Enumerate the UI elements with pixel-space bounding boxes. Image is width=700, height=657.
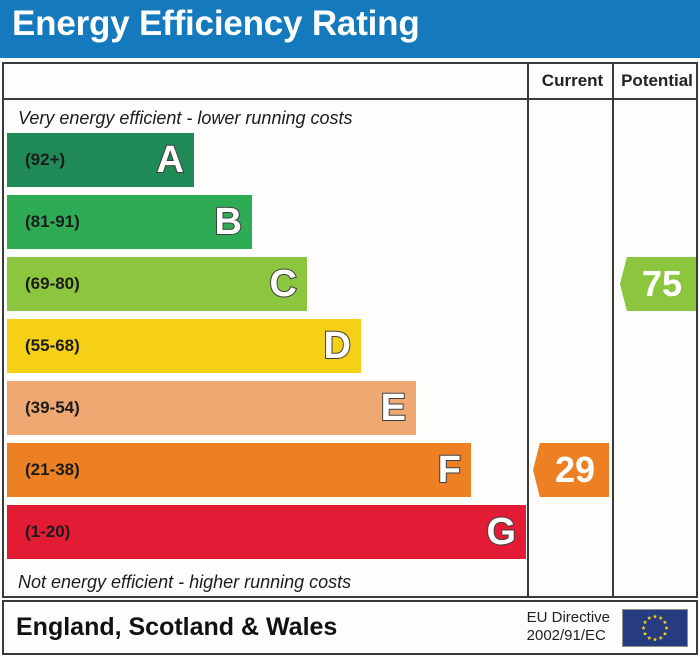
rating-table: Current Potential Very energy efficient …	[2, 62, 698, 598]
band-letter-label: D	[324, 327, 351, 365]
band-letter-label: F	[438, 451, 461, 489]
footer-directive-line2: 2002/91/EC	[527, 627, 610, 645]
energy-efficiency-rating-chart: Energy Efficiency Rating Current Potenti…	[0, 0, 700, 657]
band-range-label: (81-91)	[25, 212, 80, 232]
chart-footer: England, Scotland & Wales EU Directive 2…	[2, 600, 698, 655]
column-header-potential: Potential	[618, 71, 696, 91]
band-letter-label: G	[486, 513, 516, 551]
band-letter-label: E	[381, 389, 406, 427]
potential-column-divider	[612, 64, 614, 596]
page-title: Energy Efficiency Rating	[12, 4, 420, 44]
current-rating-badge-value: 29	[547, 452, 595, 488]
potential-rating-badge-value: 75	[634, 266, 682, 302]
band-letter-label: B	[215, 203, 242, 241]
band-letter-label: C	[270, 265, 297, 303]
potential-rating-badge: 75	[620, 257, 696, 311]
rating-band-c: (69-80)C	[7, 257, 307, 311]
band-range-label: (55-68)	[25, 336, 80, 356]
column-header-current: Current	[533, 71, 612, 91]
rating-band-e: (39-54)E	[7, 381, 416, 435]
rating-band-d: (55-68)D	[7, 319, 361, 373]
rating-band-b: (81-91)B	[7, 195, 252, 249]
band-range-label: (1-20)	[25, 522, 70, 542]
band-range-label: (21-38)	[25, 460, 80, 480]
eu-flag-icon	[622, 609, 688, 647]
rating-band-a: (92+)A	[7, 133, 194, 187]
band-range-label: (39-54)	[25, 398, 80, 418]
band-letter-label: A	[157, 141, 184, 179]
rating-band-f: (21-38)F	[7, 443, 471, 497]
chart-title-banner: Energy Efficiency Rating	[0, 0, 700, 58]
footer-region-label: England, Scotland & Wales	[16, 613, 337, 642]
footer-directive-line1: EU Directive	[527, 609, 610, 627]
rating-bands: (92+)A(81-91)B(69-80)C(55-68)D(39-54)E(2…	[4, 64, 527, 596]
current-rating-badge: 29	[533, 443, 609, 497]
current-column-divider	[527, 64, 529, 596]
rating-band-g: (1-20)G	[7, 505, 526, 559]
band-range-label: (69-80)	[25, 274, 80, 294]
band-range-label: (92+)	[25, 150, 65, 170]
footer-directive: EU Directive 2002/91/EC	[527, 609, 610, 645]
